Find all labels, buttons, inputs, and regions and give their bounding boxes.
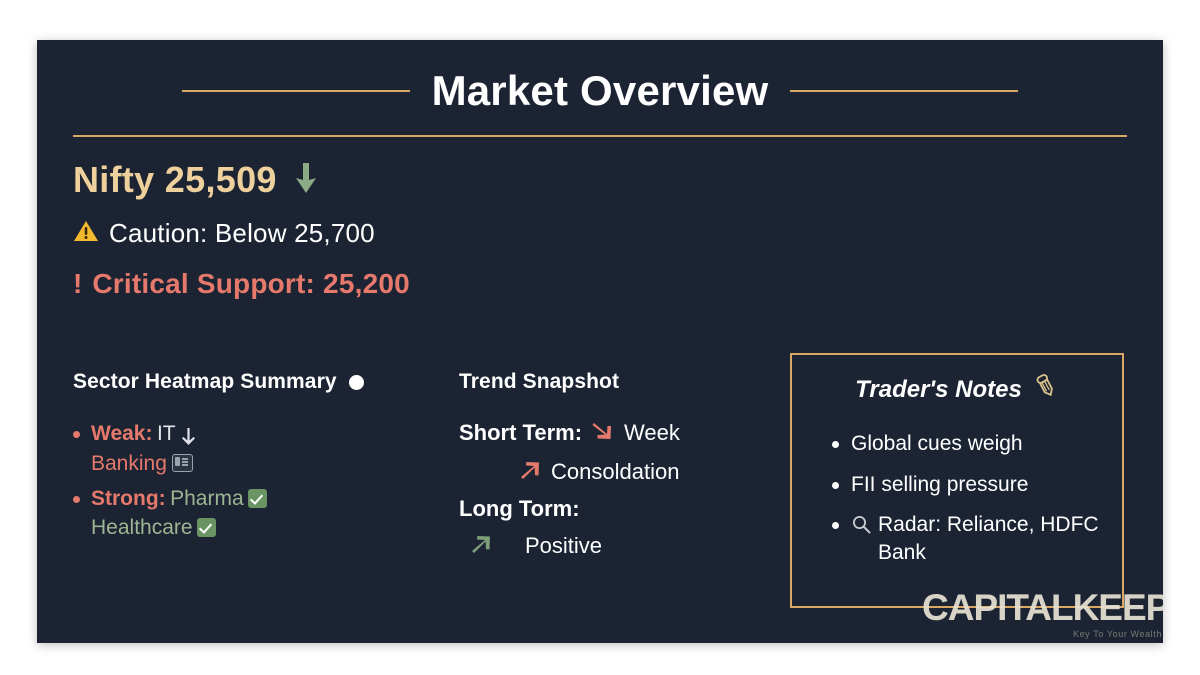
note-text: FII selling pressure	[851, 471, 1028, 499]
critical-support-text: Critical Support: 25,200	[92, 268, 410, 300]
long-term-value: Positive	[503, 533, 602, 559]
strong-label: Strong:	[91, 487, 166, 510]
nifty-index-value: Nifty 25,509	[73, 159, 277, 201]
traders-notes-title: Trader's Notes	[855, 376, 1022, 404]
page-title: Market Overview	[432, 67, 769, 115]
bullet-dot-icon	[832, 441, 839, 448]
market-overview-card: Market Overview Nifty 25,509 Caution: Be…	[37, 40, 1163, 643]
weak-sector-banking: Banking	[91, 452, 167, 475]
caution-row: Caution: Below 25,700	[73, 218, 375, 249]
bullet-dot-icon	[73, 431, 80, 438]
bullet-dot-icon	[832, 522, 839, 529]
trend-long-term-label-row: Long Torm:	[459, 496, 789, 522]
header-divider	[73, 135, 1127, 137]
short-term-value-2: Consoldation	[551, 459, 679, 485]
caution-text: Caution: Below 25,700	[109, 218, 375, 249]
traders-notes-title-row: Trader's Notes	[792, 373, 1122, 406]
note-text: Global cues weigh	[851, 430, 1023, 458]
critical-support-row: ! Critical Support: 25,200	[73, 268, 410, 300]
watermark-tagline: Key To Your Wealth	[922, 629, 1162, 639]
traders-notes-list: Global cues weigh FII selling pressure R…	[792, 430, 1122, 567]
bullet-dot-icon	[73, 496, 80, 503]
warning-icon	[73, 219, 99, 248]
bullet-dot-icon	[832, 482, 839, 489]
sector-heatmap-bullets: Weak: IT Banking Strong: Pharma	[73, 420, 453, 543]
pencil-icon	[1033, 373, 1059, 406]
trend-snapshot-section: Trend Snapshot Short Term: Week	[459, 370, 789, 570]
trend-snapshot-title: Trend Snapshot	[459, 370, 789, 394]
list-item: FII selling pressure	[832, 471, 1122, 499]
weak-label: Weak:	[91, 422, 152, 445]
check-icon	[248, 489, 267, 508]
long-term-label: Long Torm:	[459, 496, 580, 522]
short-term-value: Week	[624, 420, 680, 446]
header-rule-left	[182, 90, 410, 92]
strong-sector-pharma: Pharma	[170, 487, 244, 510]
nifty-index-row: Nifty 25,509	[73, 159, 321, 201]
id-card-icon	[172, 454, 193, 472]
arrow-down-icon	[291, 161, 321, 200]
header-rule-right	[790, 90, 1018, 92]
sector-heatmap-title-row: Sector Heatmap Summary	[73, 370, 453, 394]
weak-sector-it: IT	[157, 422, 176, 445]
list-item: Weak: IT Banking	[73, 420, 453, 479]
trend-short-term-row-2: Consoldation	[459, 457, 789, 487]
trend-long-term-value-row: Positive	[459, 531, 789, 561]
list-item: Strong: Pharma Healthcare	[73, 485, 453, 543]
arrow-up-right-icon	[517, 457, 543, 487]
arrow-up-right-icon	[469, 531, 495, 561]
list-item: Radar: Reliance, HDFC Bank	[832, 511, 1122, 566]
search-icon	[851, 514, 872, 540]
exclamation-icon: !	[73, 270, 82, 298]
sector-heatmap-title: Sector Heatmap Summary	[73, 370, 337, 394]
traders-notes-box: Trader's Notes Global cues weigh	[790, 353, 1124, 608]
white-dot-icon	[349, 375, 364, 390]
trend-short-term-row: Short Term: Week	[459, 418, 789, 448]
arrow-down-right-icon	[590, 418, 616, 448]
strong-sector-healthcare: Healthcare	[91, 516, 193, 539]
short-term-label: Short Term:	[459, 420, 582, 446]
card-header: Market Overview	[37, 58, 1163, 124]
arrow-down-icon	[176, 427, 196, 450]
sector-heatmap-section: Sector Heatmap Summary Weak: IT Banking	[73, 370, 453, 549]
screenshot-root: Market Overview Nifty 25,509 Caution: Be…	[0, 0, 1200, 675]
note-text: Radar: Reliance, HDFC Bank	[878, 511, 1122, 566]
list-item: Global cues weigh	[832, 430, 1122, 458]
trend-snapshot-list: Short Term: Week Consoldation	[459, 418, 789, 561]
check-icon	[197, 518, 216, 537]
